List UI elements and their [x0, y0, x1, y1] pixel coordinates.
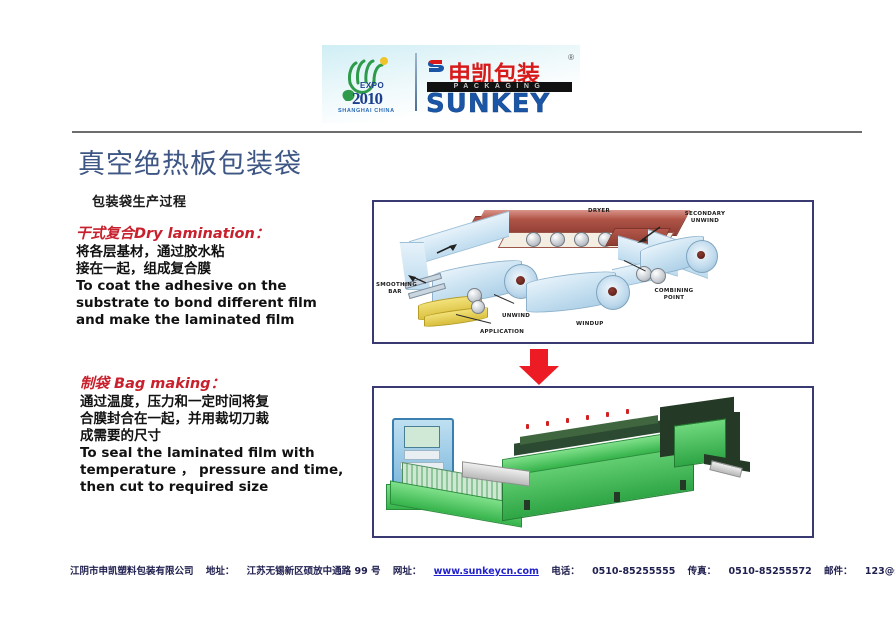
section-bag-making: 制袋 Bag making： 通过温度，压力和一定时间将复 合膜封合在一起，并用… [80, 372, 380, 496]
label-application: APPLICATION [480, 329, 524, 336]
application-roller [471, 300, 485, 314]
page-subtitle: 包装袋生产过程 [92, 191, 187, 210]
section-cn-line: 接在一起，组成复合膜 [76, 261, 376, 278]
sealing-knob [626, 409, 629, 414]
page-title: 真空绝热板包装袋 [78, 142, 302, 181]
header-logo-band: EXPO 2010 SHANGHAI CHINA 申凯包装 ® PACKAGIN… [322, 45, 580, 123]
control-screen [404, 426, 440, 448]
dryer-roller [526, 232, 541, 247]
section-cn-line: 通过温度，压力和一定时间将复 [80, 394, 380, 411]
dryer-roller [550, 232, 565, 247]
unwind-roll-hub [516, 276, 525, 285]
footer-company: 江阴市申凯塑料包装有限公司 [70, 566, 194, 577]
label-secondary-unwind: SECONDARY UNWIND [670, 211, 740, 225]
section-dry-lamination: 干式复合Dry lamination： 将各层基材，通过胶水粘 接在一起，组成复… [76, 222, 376, 329]
footer-fax-label: 传真： [688, 566, 717, 577]
footer-website-link[interactable]: www.sunkeycn.com [434, 566, 539, 577]
footer-address-label: 地址： [206, 566, 235, 577]
title-divider [72, 131, 862, 133]
secondary-unwind-hub [697, 251, 705, 259]
section-en-line: To seal the laminated film with [80, 445, 380, 462]
label-smoothing-bar: SMOOTHING BAR [376, 282, 414, 296]
sunkey-packaging-logo: 申凯包装 ® PACKAGING SUNKEY [426, 51, 576, 119]
bag-making-machine-photo [372, 386, 814, 538]
section-cn-line: 将各层基材，通过胶水粘 [76, 244, 376, 261]
label-unwind: UNWIND [502, 313, 530, 320]
footer-tel-label: 电话： [551, 566, 580, 577]
control-strip [404, 450, 440, 460]
section-heading: 干式复合Dry lamination： [76, 222, 376, 243]
section-en-line: temperature ， pressure and time, [80, 462, 380, 479]
footer-email-label: 邮件： [824, 566, 853, 577]
windup-roll-hub [608, 287, 617, 296]
footer-contact-bar: 江阴市申凯塑料包装有限公司 地址： 江苏无锡新区硕放中通路 99 号 网址： w… [70, 563, 850, 579]
sealing-knob [586, 415, 589, 420]
brand-english-name: SUNKEY [426, 89, 550, 119]
slide-canvas: EXPO 2010 SHANGHAI CHINA 申凯包装 ® PACKAGIN… [0, 0, 895, 631]
machine-foot [680, 480, 686, 490]
down-arrow-stem [530, 349, 548, 367]
direction-arrow-icon [436, 244, 458, 256]
section-cn-line: 合膜封合在一起，并用裁切刀裁 [80, 411, 380, 428]
sealing-knob [606, 412, 609, 417]
direction-arrow-icon [636, 226, 662, 244]
section-en-line: substrate to bond different film [76, 295, 376, 312]
section-en-line: then cut to required size [80, 479, 380, 496]
footer-address: 江苏无锡新区硕放中通路 99 号 [247, 566, 381, 577]
label-windup: WINDUP [576, 321, 604, 328]
footer-website-label: 网址： [393, 566, 422, 577]
combining-nip-roller [650, 268, 666, 284]
footer-email: 123@sunkeycn.com [865, 566, 895, 577]
label-dryer: DRYER [588, 208, 610, 215]
section-en-line: and make the laminated film [76, 312, 376, 329]
down-arrow [519, 349, 559, 385]
section-heading: 制袋 Bag making： [80, 372, 380, 393]
registered-trademark-icon: ® [568, 53, 574, 62]
expo-city: SHANGHAI CHINA [338, 108, 395, 114]
sealing-knob [566, 418, 569, 423]
s-logo-icon [426, 57, 446, 77]
label-combining-point: COMBINING POINT [650, 288, 698, 302]
machine-foot [614, 492, 620, 502]
machine-foot [524, 500, 530, 510]
expo-2010-shanghai-logo: EXPO 2010 SHANGHAI CHINA [330, 49, 408, 121]
sealing-knob [546, 421, 549, 426]
logo-divider [415, 53, 417, 111]
footer-fax: 0510-85255572 [728, 566, 811, 577]
dry-lamination-diagram: DRYER SECONDARY UNWIND SMOOTHING BAR UNW… [372, 200, 814, 344]
footer-tel: 0510-85255555 [592, 566, 675, 577]
expo-year: 2010 [352, 89, 382, 109]
down-arrow-head [519, 366, 559, 385]
section-en-line: To coat the adhesive on the [76, 278, 376, 295]
dryer-top [480, 210, 691, 219]
section-cn-line: 成需要的尺寸 [80, 428, 380, 445]
dryer-roller [574, 232, 589, 247]
sealing-knob [526, 424, 529, 429]
